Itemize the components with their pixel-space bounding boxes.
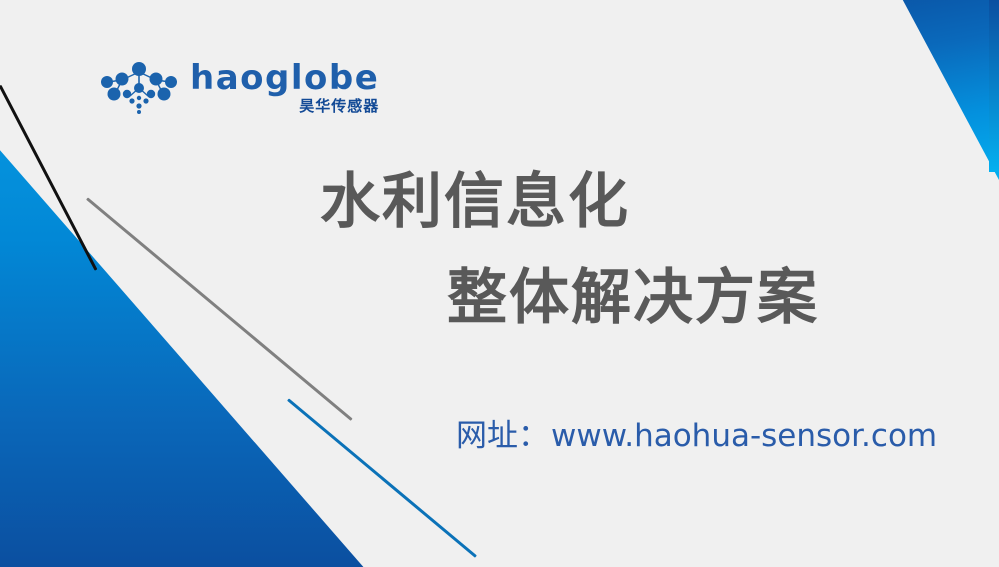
website-line: 网址：www.haohua-sensor.com	[456, 421, 937, 452]
gray-diagonal-line-decoration	[86, 197, 353, 421]
network-dots-logo-icon	[96, 58, 182, 116]
logo-text-block: haoglobe 昊华传感器	[190, 61, 379, 114]
company-logo: haoglobe 昊华传感器	[96, 58, 379, 116]
website-label: 网址：	[456, 418, 549, 454]
black-diagonal-line-decoration	[0, 85, 97, 271]
title-line-1: 水利信息化	[320, 172, 630, 232]
presentation-title-slide: haoglobe 昊华传感器 水利信息化 整体解决方案 网址：www.haohu…	[0, 0, 999, 567]
top-right-edge-accent-decoration	[989, 0, 999, 172]
logo-subtitle-chinese: 昊华传感器	[299, 99, 379, 114]
blue-diagonal-line-decoration	[287, 398, 477, 557]
top-right-blue-triangle-decoration	[739, 0, 999, 180]
website-url: www.haohua-sensor.com	[551, 418, 937, 454]
logo-wordmark: haoglobe	[190, 61, 379, 95]
title-line-2: 整体解决方案	[447, 268, 819, 328]
